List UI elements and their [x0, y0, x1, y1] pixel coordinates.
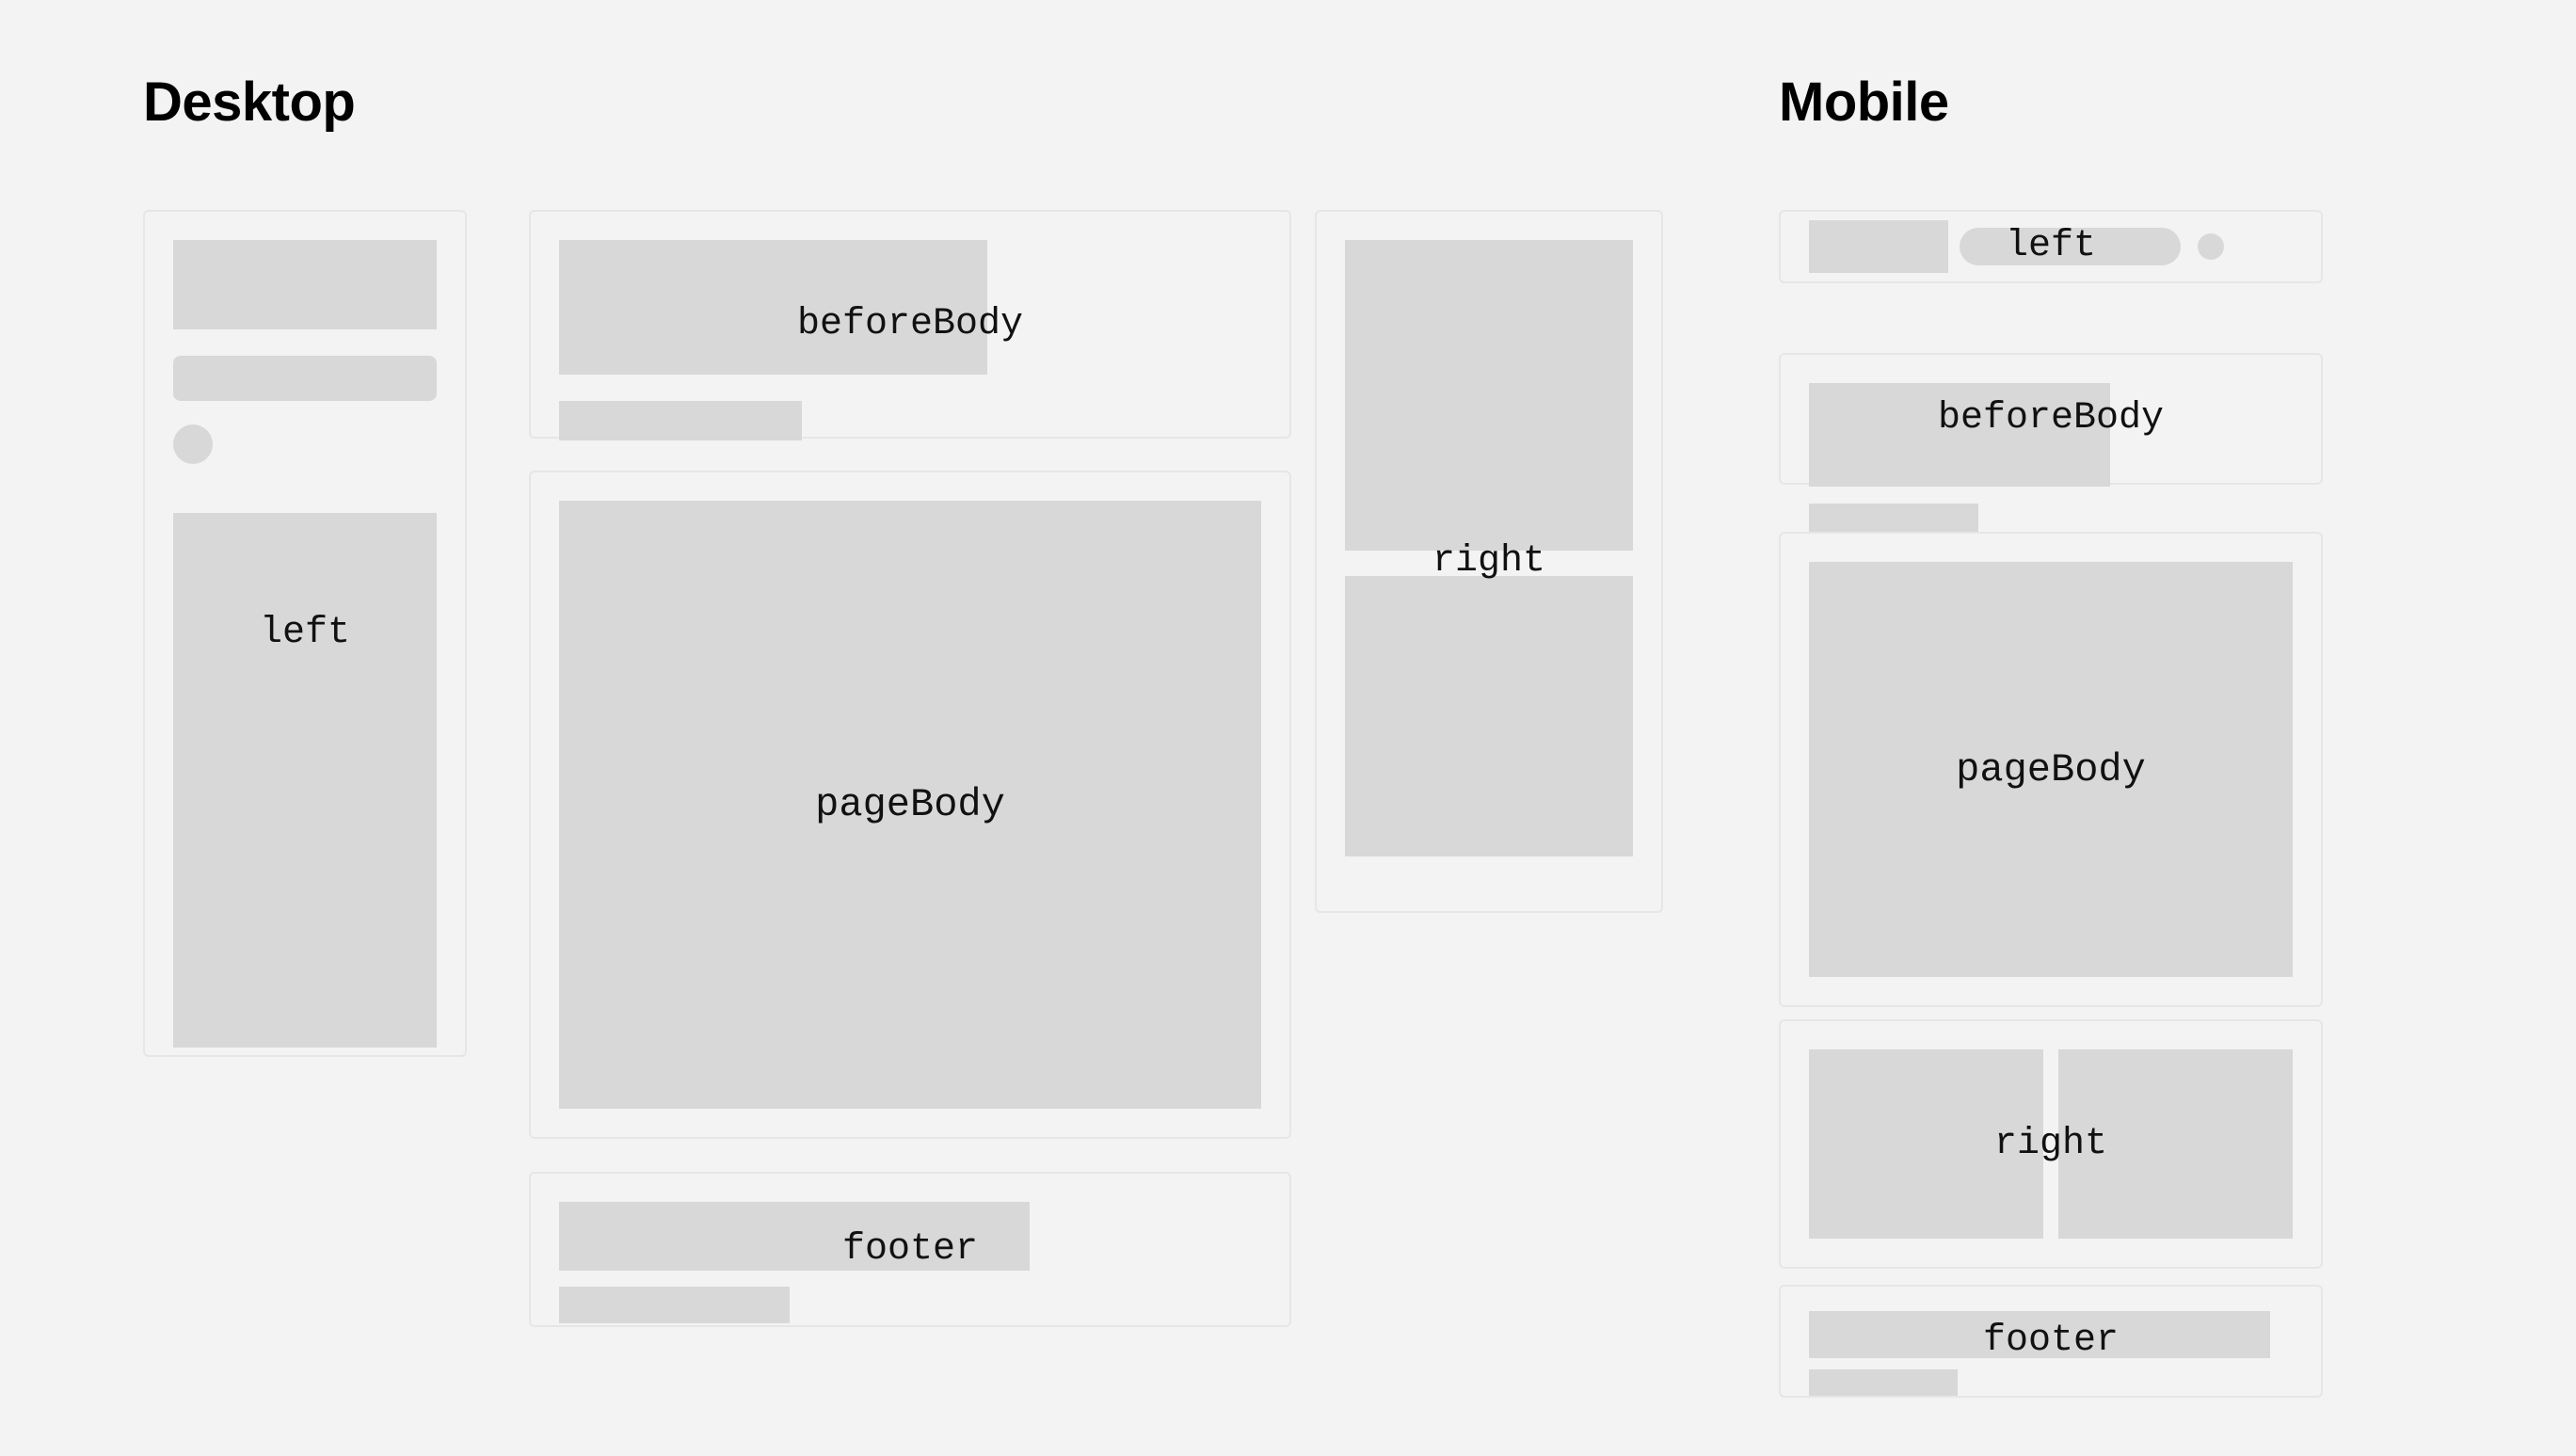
placeholder-pill: [1960, 228, 2181, 265]
placeholder-circle: [2198, 233, 2224, 260]
desktop-footer-region-panel[interactable]: footer: [529, 1172, 1291, 1327]
mobile-column-title: Mobile: [1779, 75, 1949, 130]
placeholder-block: [559, 401, 802, 440]
desktop-column-title: Desktop: [143, 75, 355, 130]
placeholder-block: [559, 501, 1261, 1109]
placeholder-block: [2058, 1049, 2293, 1239]
mobile-left-row: [1809, 232, 2293, 261]
placeholder-pill: [173, 356, 437, 401]
mobile-beforebody-region-panel[interactable]: beforeBody: [1779, 353, 2323, 485]
mobile-left-region-panel[interactable]: left: [1779, 210, 2323, 283]
placeholder-block: [1809, 1311, 2270, 1358]
desktop-pagebody-region-panel[interactable]: pageBody: [529, 471, 1291, 1139]
placeholder-block: [1809, 504, 1978, 532]
desktop-right-region-panel[interactable]: right: [1315, 210, 1663, 913]
desktop-beforebody-region-panel[interactable]: beforeBody: [529, 210, 1291, 439]
mobile-right-region-panel[interactable]: right: [1779, 1019, 2323, 1269]
desktop-left-region-panel[interactable]: left: [143, 210, 467, 1057]
placeholder-block: [173, 513, 437, 1048]
mobile-right-row: [1809, 1049, 2293, 1239]
placeholder-block: [1809, 220, 1948, 273]
placeholder-block: [559, 240, 987, 375]
placeholder-block: [1345, 576, 1633, 856]
placeholder-block: [1809, 1049, 2043, 1239]
placeholder-block: [173, 240, 437, 329]
placeholder-circle: [173, 424, 213, 464]
placeholder-block: [1809, 383, 2110, 487]
placeholder-block: [1809, 562, 2293, 977]
placeholder-block: [559, 1202, 1030, 1271]
mobile-pagebody-region-panel[interactable]: pageBody: [1779, 532, 2323, 1007]
placeholder-block: [1809, 1369, 1958, 1396]
placeholder-block: [1345, 240, 1633, 551]
placeholder-block: [559, 1287, 790, 1323]
mobile-footer-region-panel[interactable]: footer: [1779, 1285, 2323, 1398]
